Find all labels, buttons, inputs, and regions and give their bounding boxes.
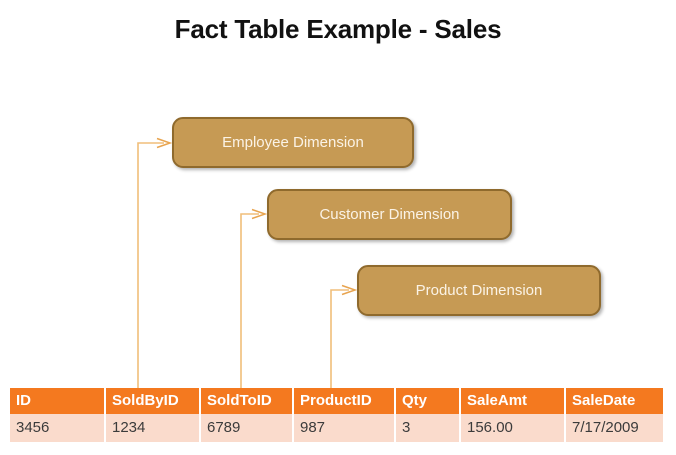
connector-soldtoid-to-customer [241,210,265,393]
dimension-box-product-label: Product Dimension [416,282,543,299]
table-header-row: ID SoldByID SoldToID ProductID Qty SaleA… [10,388,663,414]
table-row: 3456 1234 6789 987 3 156.00 7/17/2009 [10,414,663,442]
slide-canvas: Fact Table Example - Sales Employee Dime… [0,0,676,455]
dimension-box-product[interactable]: Product Dimension [357,265,601,316]
cell-soldbyid: 1234 [105,414,200,442]
arrowhead-icon [252,210,265,219]
column-header-saleamt[interactable]: SaleAmt [460,388,565,414]
cell-productid: 987 [293,414,395,442]
column-header-saledate[interactable]: SaleDate [565,388,663,414]
cell-saledate: 7/17/2009 [565,414,663,442]
fact-table: ID SoldByID SoldToID ProductID Qty SaleA… [10,388,663,442]
dimension-box-customer[interactable]: Customer Dimension [267,189,512,240]
column-header-id[interactable]: ID [10,388,105,414]
cell-saleamt: 156.00 [460,414,565,442]
arrowhead-icon [157,139,170,148]
column-header-soldtoid[interactable]: SoldToID [200,388,293,414]
connector-soldbyid-to-employee [138,139,170,393]
cell-qty: 3 [395,414,460,442]
connector-productid-to-product [331,286,355,393]
column-header-soldbyid[interactable]: SoldByID [105,388,200,414]
column-header-productid[interactable]: ProductID [293,388,395,414]
cell-soldtoid: 6789 [200,414,293,442]
dimension-box-employee[interactable]: Employee Dimension [172,117,414,168]
page-title: Fact Table Example - Sales [0,14,676,45]
dimension-box-customer-label: Customer Dimension [319,206,459,223]
arrowhead-icon [342,286,355,295]
cell-id: 3456 [10,414,105,442]
dimension-box-employee-label: Employee Dimension [222,134,364,151]
column-header-qty[interactable]: Qty [395,388,460,414]
